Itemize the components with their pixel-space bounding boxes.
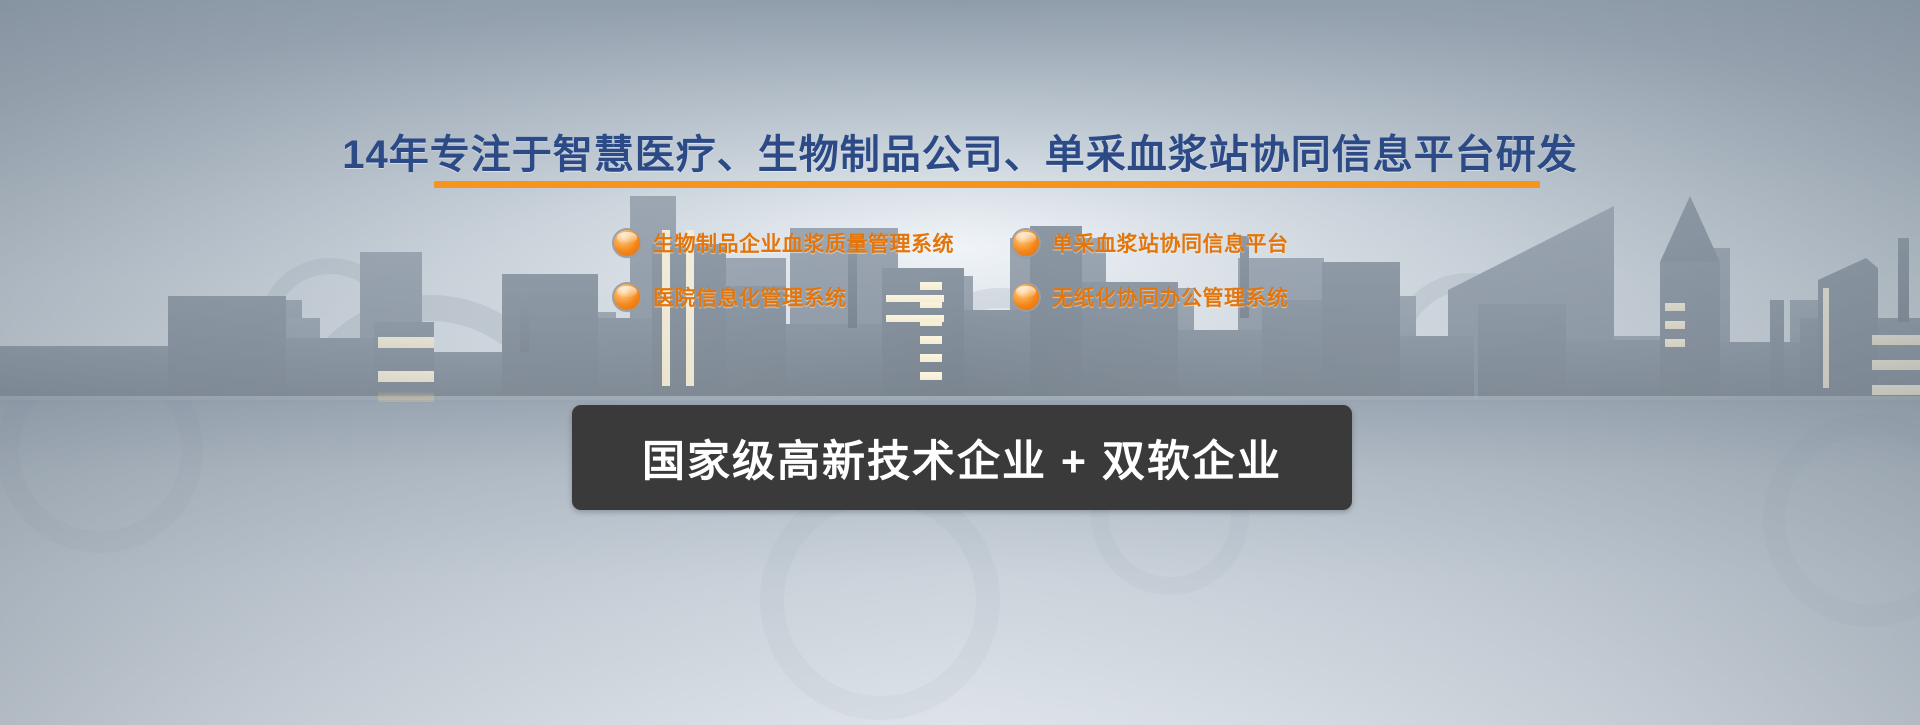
banner-content: 14年专注于智慧医疗、生物制品公司、单采血浆站协同信息平台研发 生物制品企业血浆…: [0, 0, 1920, 725]
list-item[interactable]: 单采血浆站协同信息平台: [1013, 228, 1289, 258]
page-title: 14年专注于智慧医疗、生物制品公司、单采血浆站协同信息平台研发: [0, 122, 1920, 180]
list-item-label: 生物制品企业血浆质量管理系统: [653, 228, 954, 258]
orange-sphere-bullet-icon: [1013, 230, 1039, 256]
list-item[interactable]: 无纸化协同办公管理系统: [1013, 282, 1289, 312]
list-item-label: 单采血浆站协同信息平台: [1052, 228, 1289, 258]
orange-sphere-bullet-icon: [1013, 284, 1039, 310]
list-item-label: 无纸化协同办公管理系统: [1052, 282, 1289, 312]
list-item[interactable]: 生物制品企业血浆质量管理系统: [614, 228, 954, 258]
banner-stage: 14年专注于智慧医疗、生物制品公司、单采血浆站协同信息平台研发 生物制品企业血浆…: [0, 0, 1920, 725]
certification-plaque: 国家级高新技术企业 + 双软企业: [572, 405, 1352, 510]
list-item-label: 医院信息化管理系统: [653, 282, 847, 312]
feature-list: 生物制品企业血浆质量管理系统 单采血浆站协同信息平台 医院信息化管理系统 无纸化…: [0, 228, 1920, 348]
title-underline-accent: [434, 181, 1540, 188]
orange-sphere-bullet-icon: [614, 284, 640, 310]
orange-sphere-bullet-icon: [614, 230, 640, 256]
list-item[interactable]: 医院信息化管理系统: [614, 282, 847, 312]
certification-plaque-text: 国家级高新技术企业 + 双软企业: [642, 427, 1282, 489]
